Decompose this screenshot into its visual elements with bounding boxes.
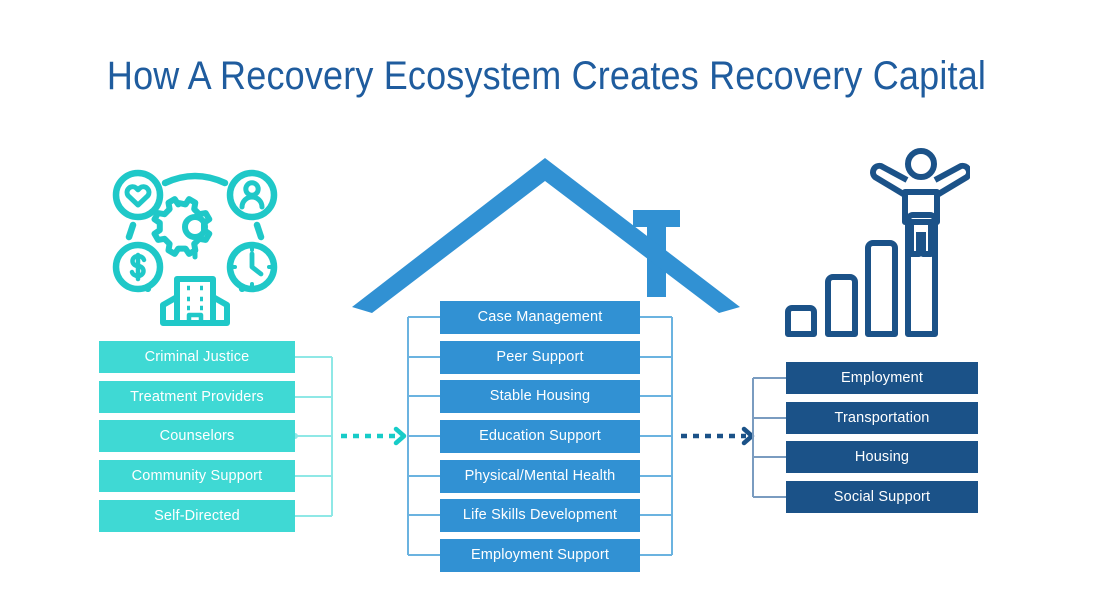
ecosystem-network-icon (105, 155, 285, 335)
house-roof-icon (352, 155, 742, 315)
list-item[interactable]: Criminal Justice (99, 341, 295, 373)
list-item[interactable]: Transportation (786, 402, 978, 434)
list-item[interactable]: Housing (786, 441, 978, 473)
list-item[interactable]: Employment (786, 362, 978, 394)
list-item[interactable]: Social Support (786, 481, 978, 513)
infographic-canvas: How A Recovery Ecosystem Creates Recover… (0, 0, 1093, 615)
person-on-growth-bars-icon (780, 148, 970, 343)
roof-chevron (352, 158, 740, 313)
list-item[interactable]: Case Management (440, 301, 640, 334)
list-item[interactable]: Self-Directed (99, 500, 295, 532)
list-item[interactable]: Treatment Providers (99, 381, 295, 413)
list-item[interactable]: Peer Support (440, 341, 640, 374)
bar-2 (828, 277, 855, 334)
bar-1 (788, 308, 814, 334)
list-item[interactable]: Physical/Mental Health (440, 460, 640, 493)
page-title: How A Recovery Ecosystem Creates Recover… (55, 54, 1039, 99)
person-arms-raised-icon (873, 151, 969, 254)
list-item[interactable]: Community Support (99, 460, 295, 492)
list-item[interactable]: Education Support (440, 420, 640, 453)
list-item[interactable]: Counselors (99, 420, 295, 452)
bar-3 (868, 243, 895, 334)
list-item[interactable]: Stable Housing (440, 380, 640, 413)
list-item[interactable]: Life Skills Development (440, 499, 640, 532)
list-item[interactable]: Employment Support (440, 539, 640, 572)
